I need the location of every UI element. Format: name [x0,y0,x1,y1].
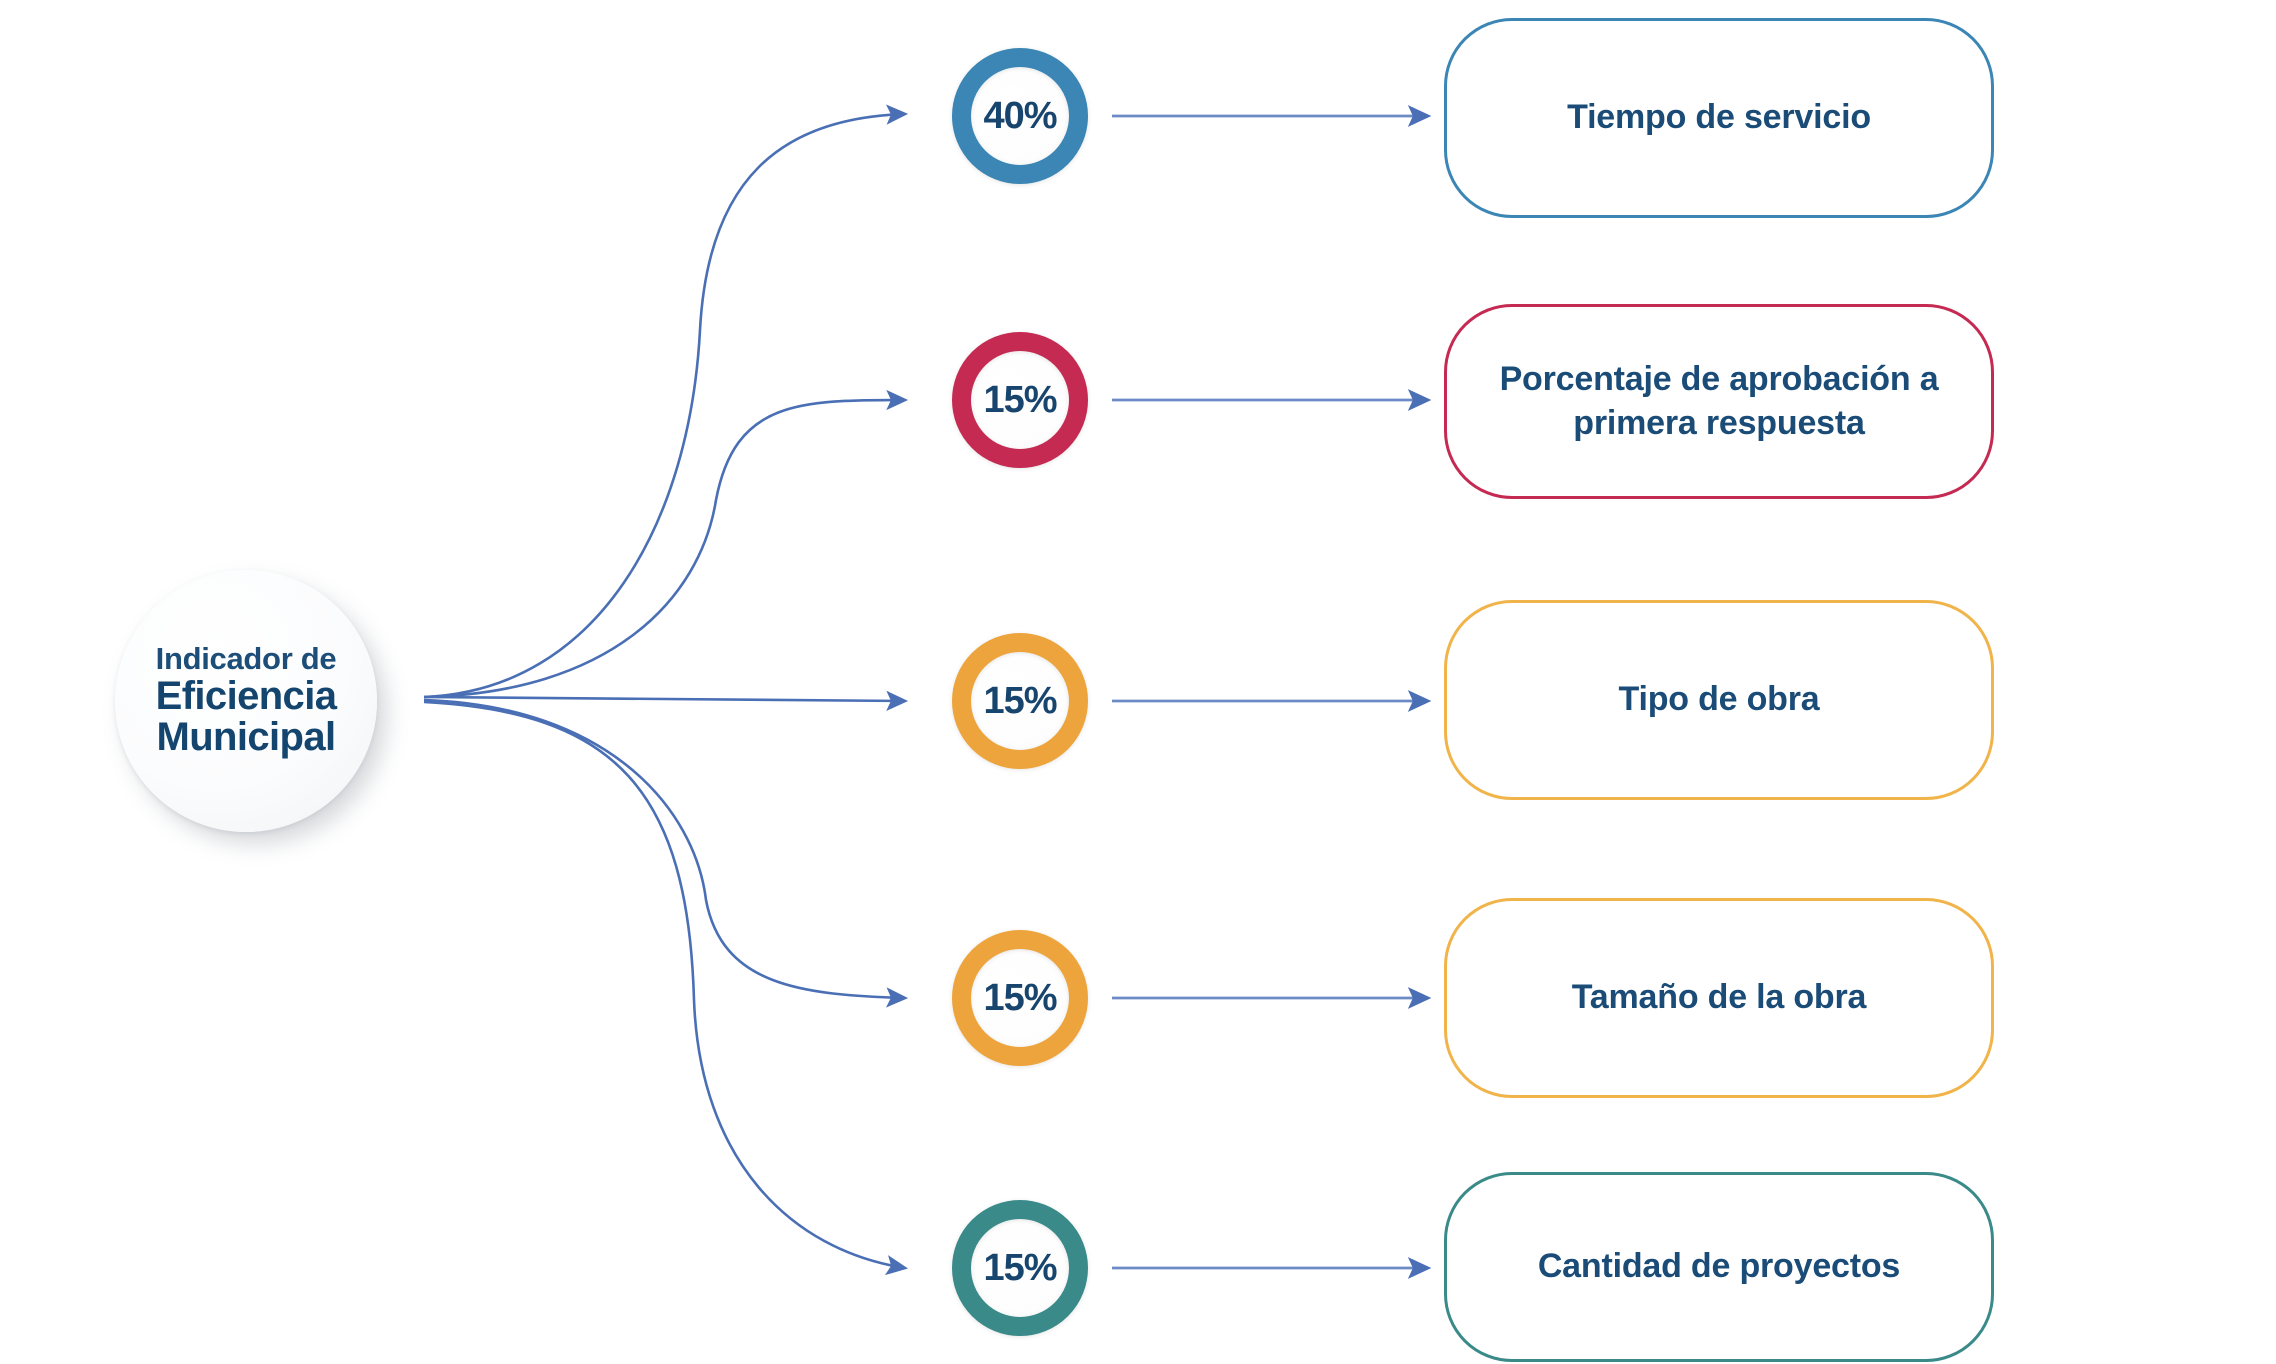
outcome-pill-cantidad-de-proyectos[interactable]: Cantidad de proyectos [1444,1172,1994,1362]
outcome-pill-porcentaje-aprobacion[interactable]: Porcentaje de aprobación a primera respu… [1444,304,1994,499]
hub-to-ring-curves [424,114,905,1268]
hub-line-3: Municipal [156,717,335,759]
curve-to-ring-1 [424,114,905,697]
outcome-pill-tamano-de-la-obra[interactable]: Tamaño de la obra [1444,898,1994,1098]
ring-badge-4[interactable]: 15% [952,930,1088,1066]
central-hub-badge[interactable]: Indicador de Eficiencia Municipal [115,570,377,832]
outcome-pill-tipo-de-obra[interactable]: Tipo de obra [1444,600,1994,800]
curve-to-ring-5 [424,702,905,1268]
curve-to-ring-2 [424,400,905,697]
efficiency-indicator-diagram: Indicador de Eficiencia Municipal 40% 15… [0,0,2276,1364]
ring-badge-2[interactable]: 15% [952,332,1088,468]
outcome-pill-4-label: Tamaño de la obra [1572,976,1866,1020]
outcome-pill-5-label: Cantidad de proyectos [1538,1245,1900,1289]
ring-badge-3-value: 15% [983,680,1056,723]
ring-badge-5[interactable]: 15% [952,1200,1088,1336]
outcome-pill-1-label: Tiempo de servicio [1567,96,1871,140]
outcome-pill-tiempo-de-servicio[interactable]: Tiempo de servicio [1444,18,1994,218]
curve-to-ring-4 [424,700,905,998]
curve-to-ring-3 [424,697,905,701]
outcome-pill-2-label: Porcentaje de aprobación a primera respu… [1493,358,1945,445]
ring-badge-2-value: 15% [983,379,1056,422]
ring-badge-1-value: 40% [983,95,1056,138]
ring-to-pill-arrows [1112,116,1428,1268]
hub-line-2: Eficiencia [156,676,337,718]
ring-badge-1[interactable]: 40% [952,48,1088,184]
ring-badge-5-value: 15% [983,1247,1056,1290]
hub-line-1: Indicador de [156,643,337,675]
ring-badge-3[interactable]: 15% [952,633,1088,769]
ring-badge-4-value: 15% [983,977,1056,1020]
outcome-pill-3-label: Tipo de obra [1619,678,1820,722]
